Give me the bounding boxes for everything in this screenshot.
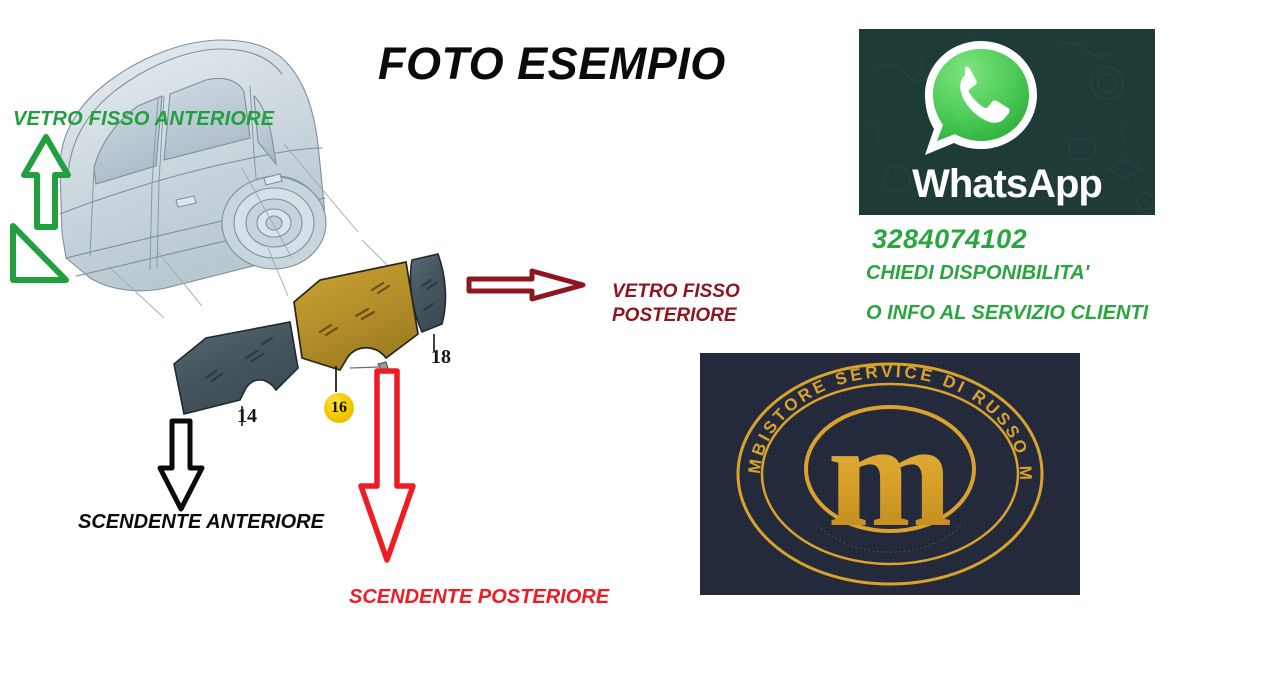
part-number-14: 14 (237, 405, 257, 428)
part-18-shape (410, 254, 445, 352)
down-arrow-icon (157, 418, 205, 513)
whatsapp-banner[interactable]: WhatsApp (859, 29, 1155, 215)
up-arrow-icon (20, 133, 72, 233)
shop-monogram: m (828, 392, 953, 558)
callout-label-fixed-front-glass: VETRO FISSO ANTERIORE (13, 108, 274, 131)
callout-label-drop-rear-glass: SCENDENTE POSTERIORE (349, 586, 609, 609)
down-arrow-long-icon (355, 368, 419, 565)
callout-label-drop-front-glass: SCENDENTE ANTERIORE (78, 511, 324, 534)
contact-customer-service-line: O INFO AL SERVIZIO CLIENTI (866, 302, 1148, 325)
triangle-glass-icon (8, 222, 70, 284)
callout-fixed-rear-line1: VETRO FISSO (612, 280, 740, 304)
callout-fixed-rear-line2: POSTERIORE (612, 304, 740, 328)
poster-canvas: FOTO ESEMPIO (0, 0, 1264, 678)
whatsapp-wordmark: WhatsApp (859, 162, 1155, 207)
right-arrow-icon (466, 268, 586, 302)
part-number-18: 18 (431, 346, 451, 369)
contact-phone-number[interactable]: 3284074102 (872, 224, 1027, 255)
contact-availability-line: CHIEDI DISPONIBILITA' (866, 262, 1089, 285)
whatsapp-phone-icon (907, 35, 1055, 167)
svg-text:m: m (828, 392, 953, 558)
callout-label-fixed-rear-glass: VETRO FISSO POSTERIORE (612, 280, 740, 329)
part-badge-16: 16 (324, 393, 354, 423)
shop-logo: MRICAMBISTORE SERVICE DI RUSSO MARCO m (700, 353, 1080, 595)
exploded-glass-parts (150, 240, 480, 440)
part-14-shape (174, 322, 298, 426)
